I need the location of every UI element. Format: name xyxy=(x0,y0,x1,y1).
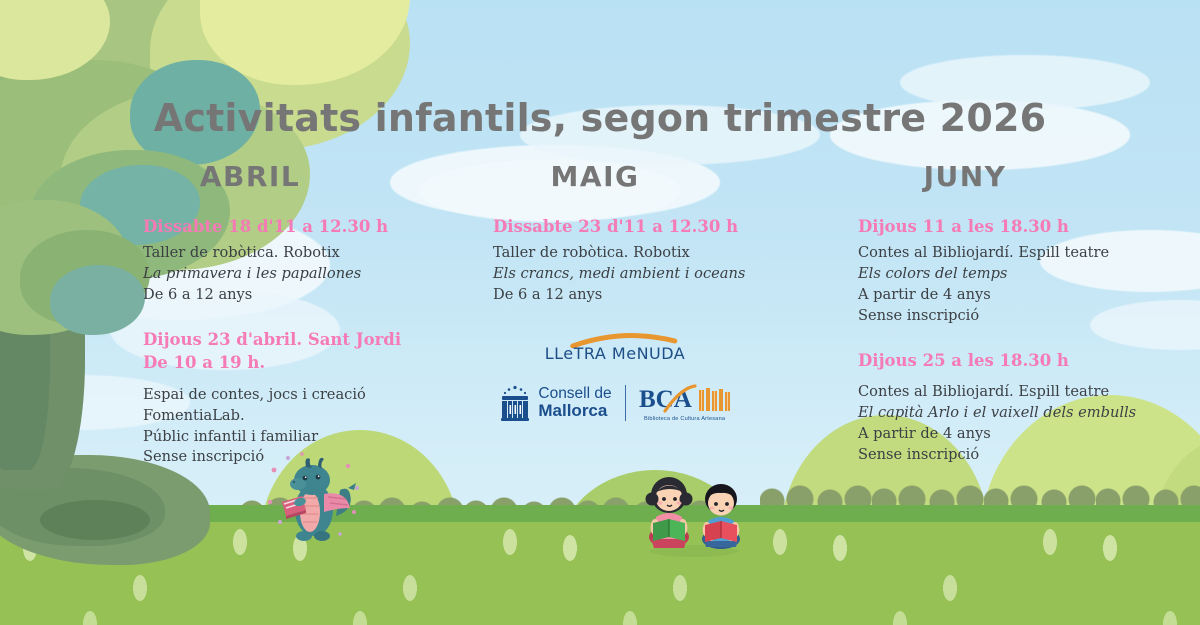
dragon-illustration xyxy=(262,450,366,555)
event-date: Dijous 25 a les 18.30 h xyxy=(858,349,1178,372)
logo-divider xyxy=(625,385,626,421)
event-detail-line: La primavera i les papallones xyxy=(143,264,443,285)
logo-bca: BCA xyxy=(639,384,731,422)
month-heading-maig: MAIG xyxy=(495,160,695,193)
event-detail-line: Contes al Bibliojardí. Espill teatre xyxy=(858,382,1178,403)
institution-logos: Consell de Mallorca BCA xyxy=(470,384,760,422)
event-detail-line: A partir de 4 anys xyxy=(858,424,1178,445)
event-detail-line: Els colors del temps xyxy=(858,264,1178,285)
event-detail-line: Sense inscripció xyxy=(858,306,1178,327)
poster-canvas: Activitats infantils, segon trimestre 20… xyxy=(0,0,1200,625)
month-heading-juny: JUNY xyxy=(865,160,1065,193)
children-reading-icon xyxy=(636,465,754,557)
event-detail-line: FomentiaLab. xyxy=(143,406,443,427)
event-item: Dijous 11 a les 18.30 h Contes al Biblio… xyxy=(858,215,1178,327)
event-date: Dissabte 23 d'11 a 12.30 h xyxy=(493,215,793,238)
consell-line-2: Mallorca xyxy=(538,402,611,420)
consell-line-1: Consell de xyxy=(538,386,611,402)
event-detail-line: Taller de robòtica. Robotix xyxy=(143,243,443,264)
event-detail-line: Contes al Bibliojardí. Espill teatre xyxy=(858,243,1178,264)
event-date: Dissabte 18 d'11 a 12.30 h xyxy=(143,215,443,238)
page-title: Activitats infantils, segon trimestre 20… xyxy=(0,96,1200,140)
tree-root-shadow xyxy=(40,500,150,540)
consell-mallorca-text: Consell de Mallorca xyxy=(538,386,611,419)
event-detail-line: Sense inscripció xyxy=(858,445,1178,466)
event-date: Dijous 11 a les 18.30 h xyxy=(858,215,1178,238)
month-heading-abril: ABRIL xyxy=(150,160,350,193)
event-item: Dijous 25 a les 18.30 h Contes al Biblio… xyxy=(858,349,1178,466)
event-item: Dissabte 23 d'11 a 12.30 h Taller de rob… xyxy=(493,215,793,306)
consell-crest-icon xyxy=(499,385,531,421)
logo-group: LLeTRA MeNUDA xyxy=(470,332,760,422)
bca-mark: BCA xyxy=(639,384,731,414)
lletra-menuda-text: LLeTRA MeNUDA xyxy=(470,344,760,363)
logo-lletra-menuda: LLeTRA MeNUDA xyxy=(470,332,760,370)
event-detail-line: Taller de robòtica. Robotix xyxy=(493,243,793,264)
event-detail-line: Públic infantil i familiar xyxy=(143,427,443,448)
event-item: Dissabte 18 d'11 a 12.30 h Taller de rob… xyxy=(143,215,443,306)
event-item: Dijous 23 d'abril. Sant Jordi De 10 a 19… xyxy=(143,328,443,468)
bca-subtitle: Biblioteca de Cultura Artesana xyxy=(639,416,731,422)
event-detail-line: De 6 a 12 anys xyxy=(143,285,443,306)
column-maig: Dissabte 23 d'11 a 12.30 h Taller de rob… xyxy=(493,215,793,328)
boy-figure xyxy=(702,484,740,549)
event-detail-line: Els crancs, medi ambient i oceans xyxy=(493,264,793,285)
dragon-reading-icon xyxy=(262,450,366,550)
event-date: Dijous 23 d'abril. Sant Jordi xyxy=(143,328,443,351)
logo-consell-mallorca: Consell de Mallorca xyxy=(499,385,611,421)
event-detail-line: De 6 a 12 anys xyxy=(493,285,793,306)
event-detail-line: A partir de 4 anys xyxy=(858,285,1178,306)
children-illustration xyxy=(636,465,754,562)
girl-figure xyxy=(646,477,693,548)
column-juny: Dijous 11 a les 18.30 h Contes al Biblio… xyxy=(858,215,1178,488)
column-abril: Dissabte 18 d'11 a 12.30 h Taller de rob… xyxy=(143,215,443,490)
event-detail-line: Espai de contes, jocs i creació xyxy=(143,385,443,406)
event-detail-line: El capità Arlo i el vaixell dels embulls xyxy=(858,403,1178,424)
bca-initials-icon: BCA xyxy=(639,384,731,414)
event-date-secondary: De 10 a 19 h. xyxy=(143,351,443,374)
